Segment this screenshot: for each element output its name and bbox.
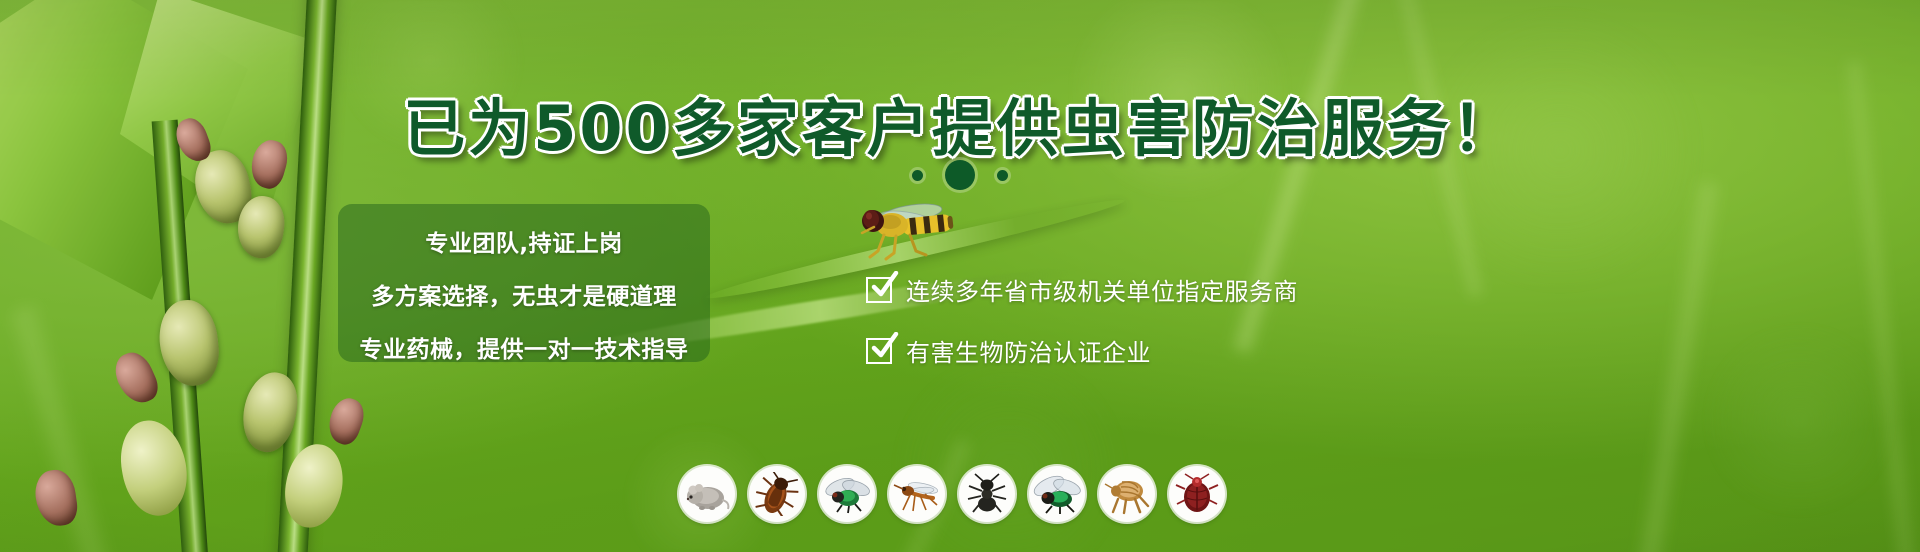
checkbox-checked-icon: [866, 277, 892, 303]
decorative-dots: [0, 160, 1920, 190]
bedbug-icon[interactable]: [1169, 466, 1225, 522]
dot-small-left-icon: [912, 170, 923, 181]
headline-text: 已为500多家客户提供虫害防治服务！: [403, 92, 1516, 165]
flea-icon[interactable]: [1099, 466, 1155, 522]
slogan-panel: 专业团队,持证上岗 多方案选择，无虫才是硬道理 专业药械，提供一对一技术指导: [338, 204, 710, 362]
checkbox-checked-icon: [866, 338, 892, 364]
dot-large-icon: [945, 160, 975, 190]
dot-small-right-icon: [997, 170, 1008, 181]
promotional-banner: 已为500多家客户提供虫害防治服务！ 专业团队,持证上岗 多方案选择，无虫才是硬…: [0, 0, 1920, 552]
credential-label: 有害生物防治认证企业: [906, 333, 1151, 368]
slogan-line-1: 专业团队,持证上岗: [338, 224, 710, 258]
mosquito-icon[interactable]: [889, 466, 945, 522]
credential-label: 连续多年省市级机关单位指定服务商: [906, 272, 1298, 307]
housefly-icon[interactable]: [819, 466, 875, 522]
pest-icon-row: [679, 466, 1225, 522]
page-title: 已为500多家客户提供虫害防治服务！: [0, 78, 1920, 168]
ant-icon[interactable]: [959, 466, 1015, 522]
cockroach-icon[interactable]: [749, 466, 805, 522]
credential-item: 连续多年省市级机关单位指定服务商: [866, 272, 1298, 307]
slogan-line-2: 多方案选择，无虫才是硬道理: [338, 277, 710, 311]
credentials-list: 连续多年省市级机关单位指定服务商 有害生物防治认证企业: [866, 272, 1298, 368]
credential-item: 有害生物防治认证企业: [866, 333, 1298, 368]
blowfly-icon[interactable]: [1029, 466, 1085, 522]
hoverfly-photo: [840, 195, 970, 265]
slogan-line-3: 专业药械，提供一对一技术指导: [338, 330, 710, 364]
mouse-icon[interactable]: [679, 466, 735, 522]
